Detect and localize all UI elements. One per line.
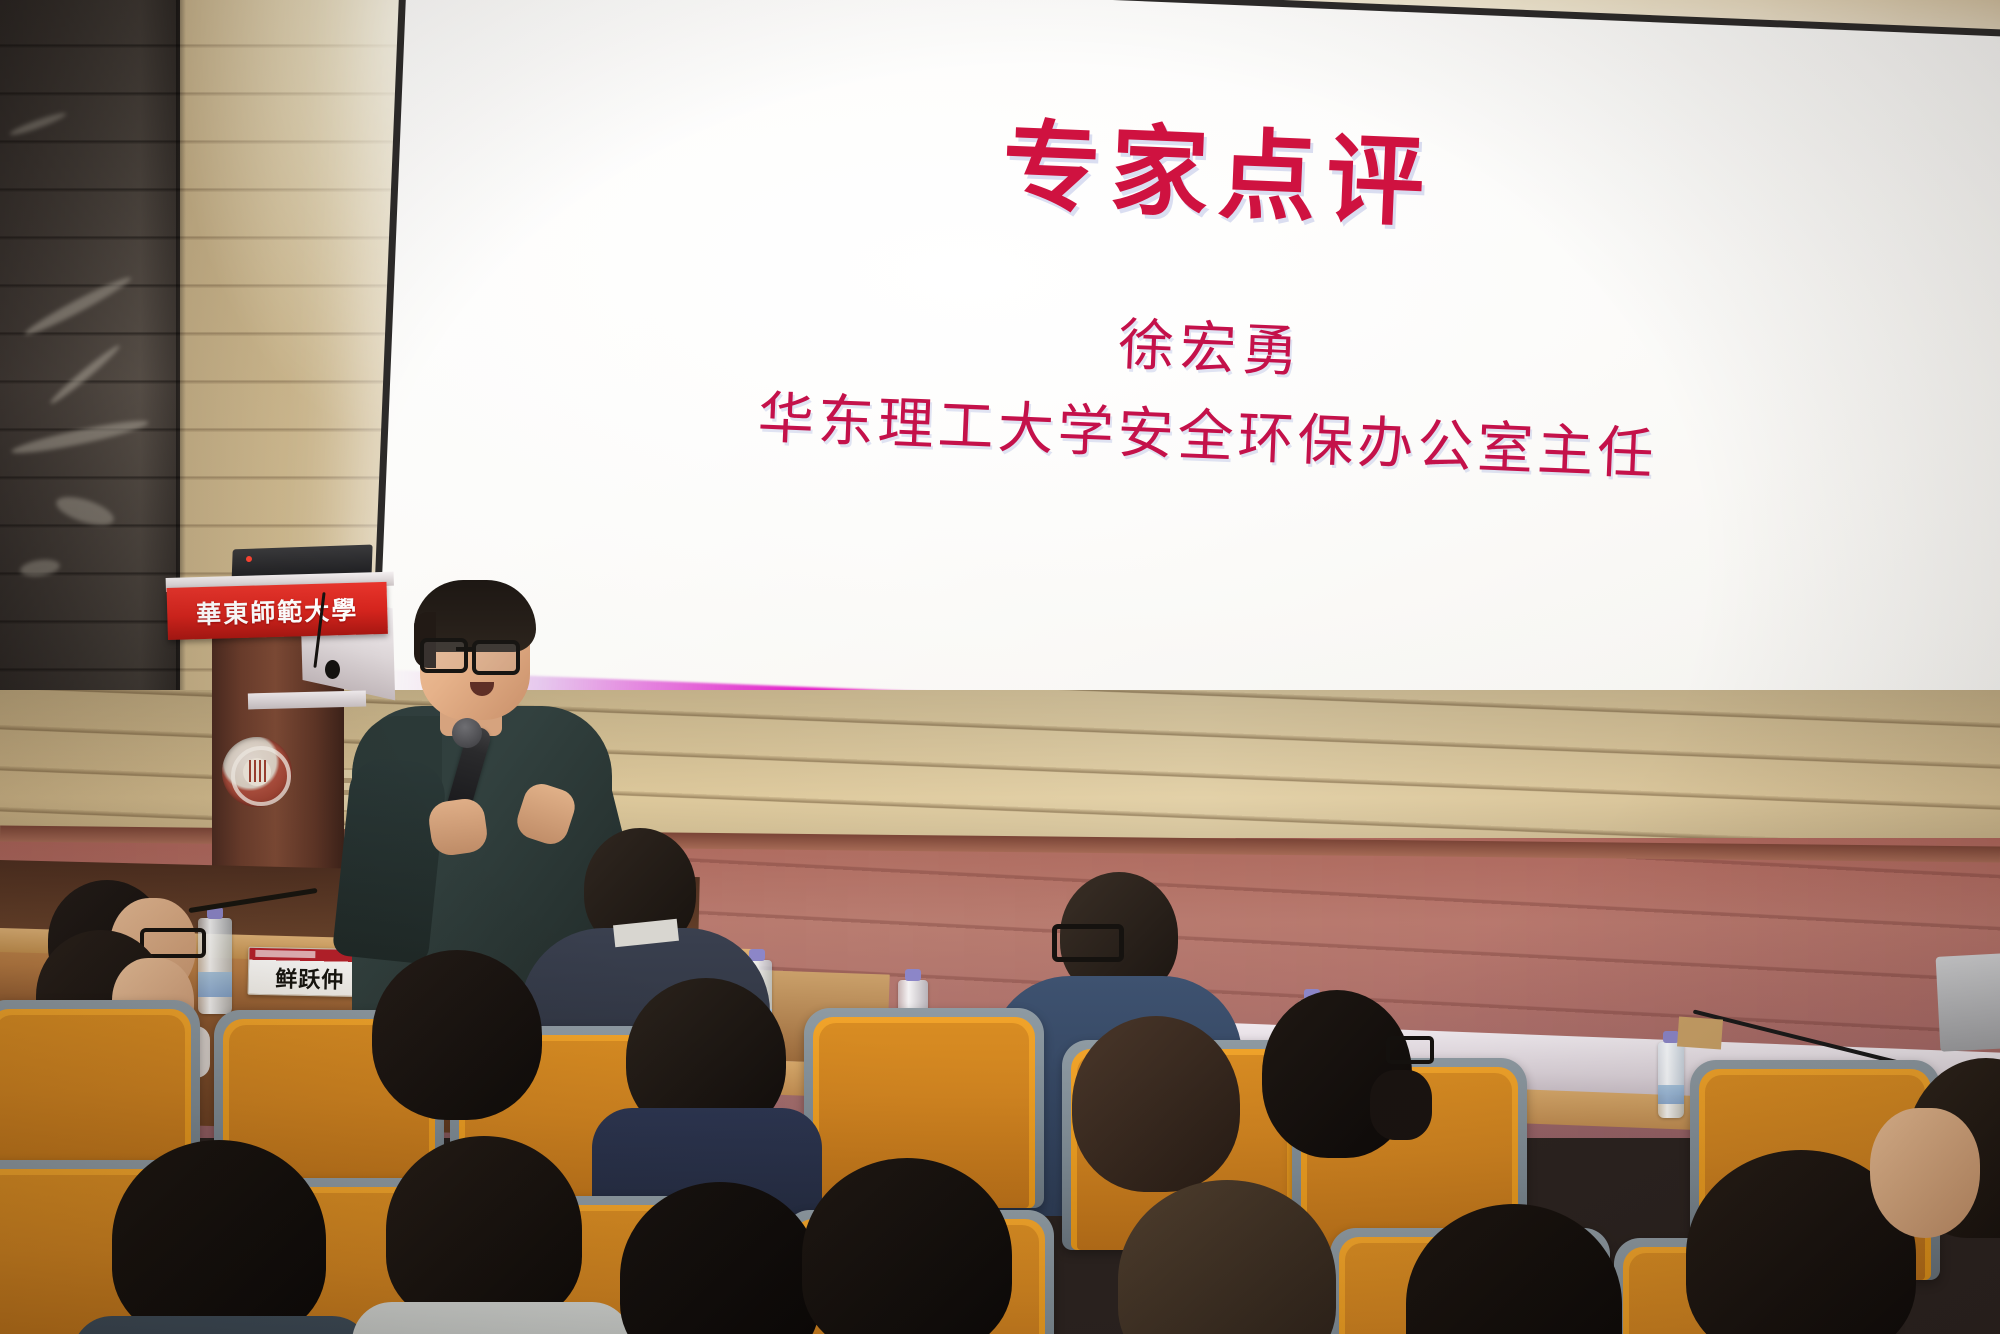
podium-microphone-head [325, 660, 340, 679]
glasses-left-lens-icon [420, 638, 468, 673]
auditorium-photo: 专家点评 徐宏勇 华东理工大学安全环保办公室主任 華東師範大學 鲜跃仲 [0, 0, 2000, 1334]
glasses-icon [1052, 924, 1124, 962]
name-plate-header [255, 950, 315, 958]
glasses-bridge-icon [456, 647, 472, 651]
ponytail [1370, 1070, 1432, 1140]
glasses-icon [1386, 1036, 1434, 1064]
marble-shading [0, 0, 180, 760]
podium-banner-text: 華東師範大學 [167, 582, 388, 640]
water-bottle [1658, 1042, 1684, 1118]
glasses-right-lens-icon [472, 640, 520, 675]
projection-screen: 专家点评 徐宏勇 华东理工大学安全环保办公室主任 [376, 0, 2000, 777]
column-edge [176, 0, 186, 760]
screen-frame [369, 0, 2000, 783]
podium-shelf [248, 691, 366, 710]
small-box [1677, 1017, 1723, 1050]
podium-banner: 華東師範大學 [167, 582, 388, 640]
side-monitor [1936, 953, 2000, 1052]
emblem-glyph-icon [249, 760, 267, 782]
